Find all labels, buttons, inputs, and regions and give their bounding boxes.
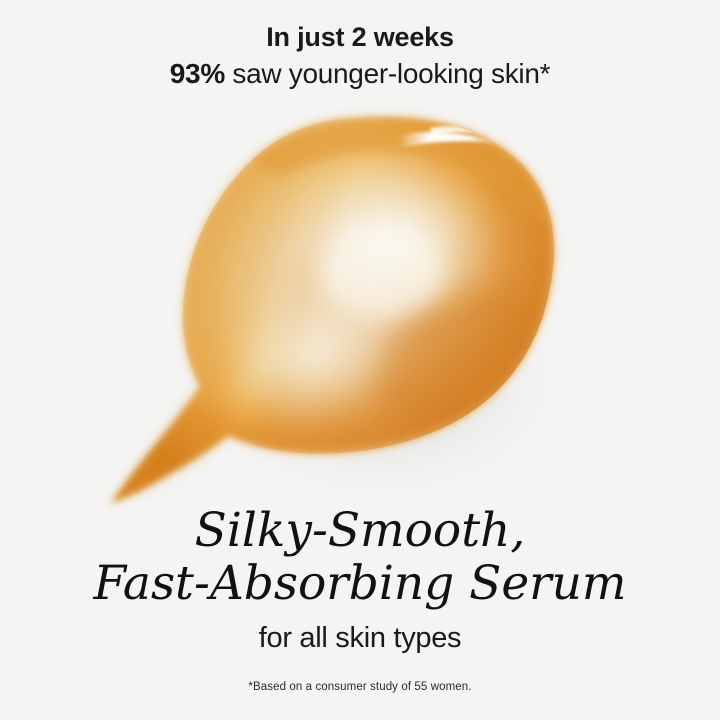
claim-block: In just 2 weeks 93% saw younger-looking … <box>0 22 720 91</box>
swatch-core-lower <box>194 244 442 459</box>
product-title-line-1: Silky-Smooth, <box>195 503 526 558</box>
swatch-bloom <box>320 224 444 320</box>
claim-statistic: 93% <box>170 58 225 89</box>
swatch-body <box>112 116 554 502</box>
swatch-gloss-highlight-secondary <box>430 126 496 136</box>
poster-canvas: In just 2 weeks 93% saw younger-looking … <box>0 0 720 720</box>
product-title: Silky-Smooth, Fast-Absorbing Serum <box>0 505 720 610</box>
swatch-core-upper <box>280 156 504 328</box>
claim-statistic-text: saw younger-looking skin* <box>225 58 550 89</box>
swatch-rim-right <box>250 118 565 456</box>
product-lockup: Silky-Smooth, Fast-Absorbing Serum for a… <box>0 505 720 655</box>
product-title-line-2: Fast-Absorbing Serum <box>0 558 720 611</box>
swatch-rim-left <box>179 114 360 400</box>
claim-subheadline: 93% saw younger-looking skin* <box>0 57 720 91</box>
swatch-gloss-highlight <box>398 132 500 148</box>
swatch-top-edge <box>250 123 550 228</box>
swatch-halo <box>112 116 554 502</box>
footnote-disclaimer: *Based on a consumer study of 55 women. <box>0 681 720 693</box>
claim-headline: In just 2 weeks <box>0 22 720 53</box>
swatch-shadow <box>190 260 570 500</box>
product-subtitle: for all skin types <box>0 622 720 655</box>
swatch-depth-lobe <box>360 271 581 448</box>
swatch-tail <box>110 340 268 512</box>
